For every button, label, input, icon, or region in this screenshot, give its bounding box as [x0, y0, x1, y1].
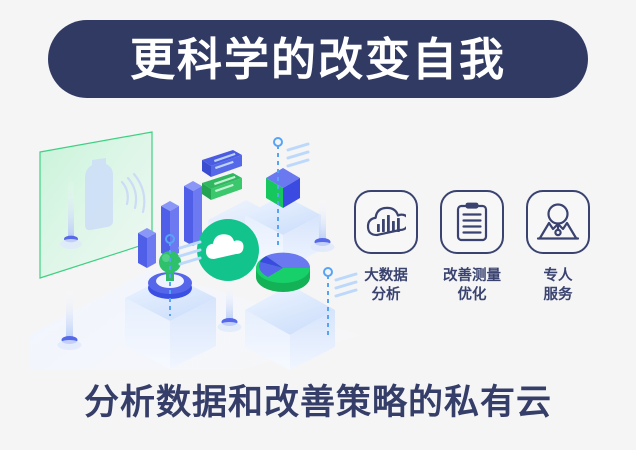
feature-item-big-data-analysis[interactable]: 大数据 分析	[352, 190, 420, 305]
clipboard-icon	[455, 202, 489, 242]
cloud-badge	[197, 219, 259, 281]
page-title: 更科学的改变自我	[130, 37, 506, 82]
cloud-bar-chart-icon	[366, 205, 406, 239]
pie-chart-3d	[256, 253, 310, 292]
feature-label-line1: 改善测量	[443, 267, 501, 286]
isometric-illustration	[30, 120, 360, 370]
feature-label: 改善测量 优化	[443, 267, 501, 305]
footer-tagline: 分析数据和改善策略的私有云	[0, 385, 636, 420]
green-tag-label	[202, 173, 242, 200]
feature-label-line1: 专人	[544, 267, 573, 286]
feature-item-dedicated-service[interactable]: 专人 服务	[524, 190, 592, 305]
feature-item-measurement-optimization[interactable]: 改善测量 优化	[438, 190, 506, 305]
feature-list: 大数据 分析 改善测量 优化	[352, 190, 592, 305]
feature-label-line2: 优化	[443, 286, 501, 305]
feature-label: 大数据 分析	[364, 267, 408, 305]
feature-icon-box	[526, 190, 590, 254]
blue-tag-label	[202, 150, 242, 177]
feature-label: 专人 服务	[544, 267, 573, 305]
header-banner: 更科学的改变自我	[48, 20, 588, 98]
feature-icon-box	[354, 190, 418, 254]
feature-label-line1: 大数据	[364, 267, 408, 286]
green-glass-panel	[40, 132, 152, 278]
feature-label-line2: 服务	[544, 286, 573, 305]
support-person-icon	[536, 202, 580, 242]
feature-icon-box	[440, 190, 504, 254]
feature-label-line2: 分析	[364, 286, 408, 305]
bottle-silhouette	[85, 158, 113, 230]
